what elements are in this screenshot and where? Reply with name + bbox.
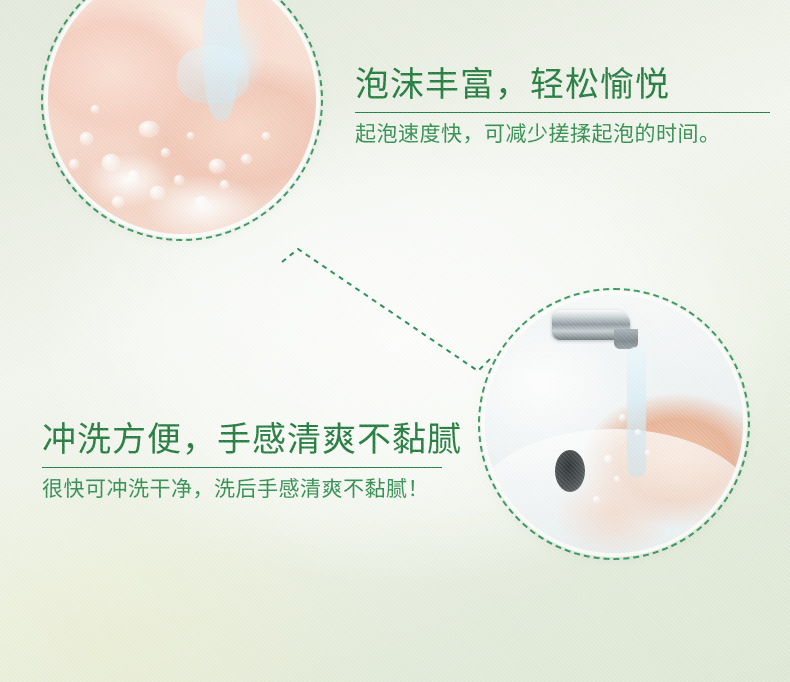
feature-heading-rinse: 冲洗方便，手感清爽不黏腻 (42, 421, 462, 459)
feature-subtitle-rinse: 很快可冲洗干净，洗后手感清爽不黏腻！ (42, 477, 462, 502)
foam-photo-circle (48, 0, 316, 234)
rinse-photo-circle (485, 295, 743, 553)
heading-divider (355, 112, 770, 113)
dashed-circle-border (478, 288, 750, 560)
feature-text-rinse: 冲洗方便，手感清爽不黏腻 很快可冲洗干净，洗后手感清爽不黏腻！ (42, 421, 462, 502)
feature-heading-foam: 泡沫丰富，轻松愉悦 (355, 66, 770, 104)
heading-divider (42, 467, 442, 468)
product-feature-banner: 泡沫丰富，轻松愉悦 起泡速度快，可减少搓揉起泡的时间。 冲洗方便，手感清爽不黏腻… (0, 0, 790, 682)
feature-subtitle-foam: 起泡速度快，可减少搓揉起泡的时间。 (355, 122, 770, 147)
feature-text-foam: 泡沫丰富，轻松愉悦 起泡速度快，可减少搓揉起泡的时间。 (355, 66, 770, 147)
